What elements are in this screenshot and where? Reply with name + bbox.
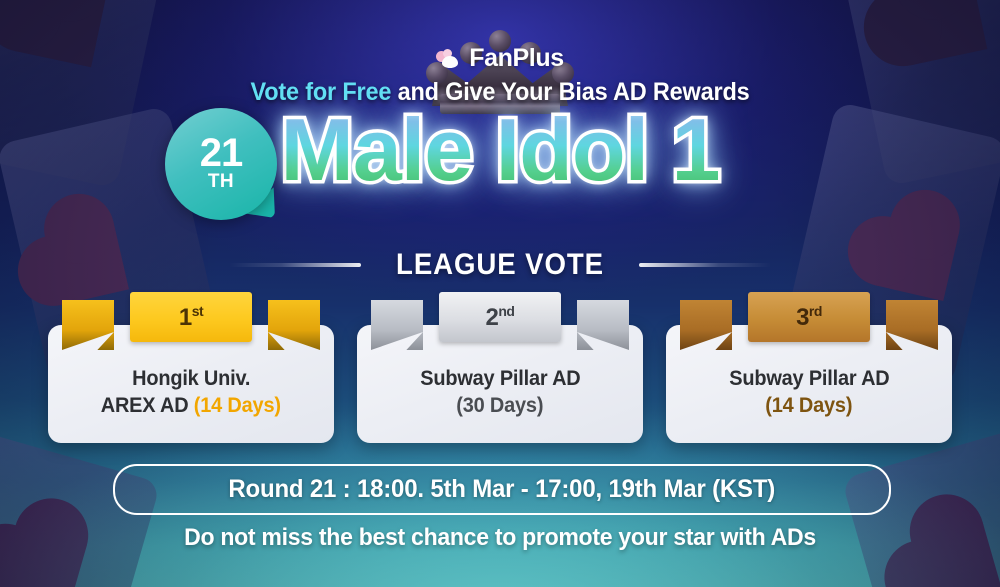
rank-label-3: 3rd	[796, 303, 822, 332]
prize-prefix-1: AREX AD	[101, 394, 194, 417]
badge-suffix: TH	[208, 172, 234, 193]
logo-text: FanPlus	[469, 44, 563, 73]
prize-card-2[interactable]: 2nd Subway Pillar AD (30 Days)	[357, 325, 643, 443]
prize-days-3: (14 Days)	[765, 394, 852, 417]
prize-line-2b: (30 Days)	[456, 394, 543, 418]
section-header: LEAGUE VOTE	[0, 248, 1000, 282]
rank-label-1: 1st	[179, 303, 203, 332]
tagline-highlight: Vote for Free	[250, 78, 391, 106]
section-label: LEAGUE VOTE	[396, 248, 604, 282]
fanplus-logo: FanPlus	[0, 44, 1000, 73]
round-number-badge: 21 TH	[165, 108, 277, 220]
tagline-rest: and Give Your Bias AD Rewards	[391, 78, 749, 106]
prize-line-3a: Subway Pillar AD	[729, 367, 889, 391]
round-schedule-text: Round 21 : 18:00. 5th Mar - 17:00, 19th …	[229, 475, 776, 504]
prize-days-1: (14 Days)	[194, 394, 281, 417]
prize-list: 1st Hongik Univ. AREX AD (14 Days) 2nd S…	[48, 325, 952, 443]
page-title: Male Idol 1 Male Idol 1	[0, 104, 1000, 196]
prize-card-3[interactable]: 3rd Subway Pillar AD (14 Days)	[666, 325, 952, 443]
tagline: Vote for Free and Give Your Bias AD Rewa…	[30, 78, 970, 107]
page-title-text: Male Idol 1	[281, 100, 720, 199]
badge-number: 21	[200, 135, 243, 172]
prize-line-1b: AREX AD (14 Days)	[101, 394, 281, 418]
prize-line-3b: (14 Days)	[765, 394, 852, 418]
footer-text: Do not miss the best chance to promote y…	[20, 524, 980, 552]
rank-label-2: 2nd	[486, 303, 515, 332]
divider-left	[229, 263, 361, 267]
promo-banner: FanPlus Vote for Free and Give Your Bias…	[0, 0, 1000, 587]
prize-card-1[interactable]: 1st Hongik Univ. AREX AD (14 Days)	[48, 325, 334, 443]
divider-right	[639, 263, 771, 267]
rank-ribbon-2: 2nd	[415, 292, 585, 350]
fanplus-petal-icon	[436, 49, 462, 69]
prize-days-2: (30 Days)	[456, 394, 543, 417]
prize-line-1a: Hongik Univ.	[132, 367, 250, 391]
round-schedule-pill: Round 21 : 18:00. 5th Mar - 17:00, 19th …	[113, 464, 891, 515]
prize-line-2a: Subway Pillar AD	[420, 367, 580, 391]
rank-ribbon-3: 3rd	[724, 292, 894, 350]
rank-ribbon-1: 1st	[106, 292, 276, 350]
